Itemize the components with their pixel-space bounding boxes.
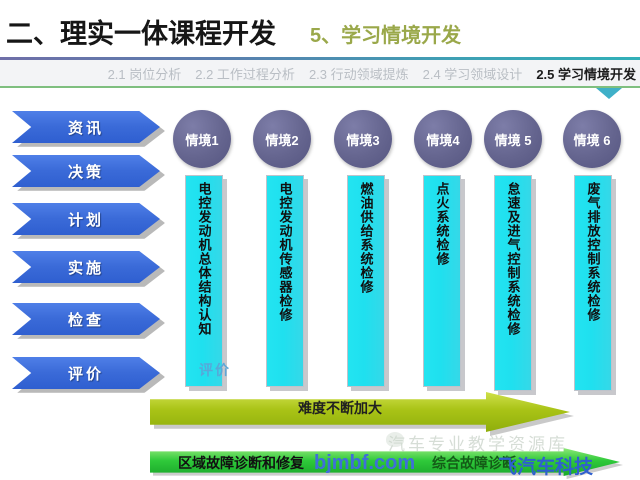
- scenario-column-label: 点火系统检修: [435, 182, 450, 266]
- slide-canvas: 二、理实一体课程开发 5、学习情境开发 2.1 岗位分析 2.2 工作过程分析 …: [0, 0, 640, 480]
- page-subtitle: 5、学习情境开发: [310, 19, 461, 48]
- slide-header: 二、理实一体课程开发 5、学习情境开发: [0, 0, 640, 58]
- step-shishi[interactable]: 实施: [12, 251, 160, 283]
- step-label: 计划: [68, 209, 104, 230]
- step-label: 资讯: [68, 117, 104, 138]
- section-tabbar: 2.1 岗位分析 2.2 工作过程分析 2.3 行动领域提炼 2.4 学习领域设…: [0, 60, 640, 88]
- step-label: 检查: [68, 309, 104, 330]
- step-jiancha[interactable]: 检查: [12, 303, 160, 335]
- scenario-column-label: 废气排放控制系统检修: [586, 182, 601, 322]
- scenario-column-1[interactable]: 电控发动机总体结构认知: [185, 175, 223, 387]
- scenario-column-6[interactable]: 废气排放控制系统检修: [574, 175, 612, 391]
- bottom-arrow-label-left: 区域故障诊断和修复: [178, 453, 304, 473]
- page-title: 二、理实一体课程开发: [6, 12, 276, 51]
- scenario-column-4[interactable]: 点火系统检修: [423, 175, 461, 387]
- scenario-circle-2[interactable]: 情境2: [253, 110, 311, 168]
- step-pingjia[interactable]: 评价: [12, 357, 160, 389]
- column-overlap-artifact: 评价: [199, 360, 231, 380]
- scenario-column-label: 电控发动机传感器检修: [278, 182, 293, 322]
- step-label: 实施: [68, 257, 104, 278]
- scenario-circle-label: 情境1: [185, 130, 218, 149]
- scenario-column-2[interactable]: 电控发动机传感器检修: [266, 175, 304, 387]
- watermark-brand: 飞汽车科技: [498, 452, 593, 479]
- tab-xuexi-lingyu[interactable]: 2.4 学习领域设计: [423, 64, 523, 83]
- step-label: 评价: [68, 363, 104, 384]
- step-zixun[interactable]: 资讯: [12, 111, 160, 143]
- difficulty-arrow-label: 难度不断加大: [150, 398, 530, 418]
- scenario-circle-label: 情境4: [426, 130, 459, 149]
- scenario-column-5[interactable]: 怠速及进气控制系统检修: [494, 175, 532, 391]
- step-label: 决策: [68, 161, 104, 182]
- watermark-domain: bjmbf.com: [314, 452, 415, 475]
- scenario-column-label: 燃油供给系统检修: [359, 182, 374, 294]
- scenario-circle-1[interactable]: 情境1: [173, 110, 231, 168]
- tab-xingdong-lingyu[interactable]: 2.3 行动领域提炼: [309, 64, 409, 83]
- tab-gongzuo-guocheng[interactable]: 2.2 工作过程分析: [195, 64, 295, 83]
- scenario-circle-label: 情境 6: [574, 130, 611, 149]
- scenario-column-label: 怠速及进气控制系统检修: [506, 182, 521, 336]
- scenario-circle-label: 情境2: [265, 130, 298, 149]
- scenario-column-label: 电控发动机总体结构认知: [197, 182, 212, 336]
- chevron-down-icon: [596, 88, 622, 99]
- tab-xuexi-qingjing[interactable]: 2.5 学习情境开发: [536, 64, 636, 83]
- scenario-circle-6[interactable]: 情境 6: [563, 110, 621, 168]
- scenario-circle-4[interactable]: 情境4: [414, 110, 472, 168]
- step-jihua[interactable]: 计划: [12, 203, 160, 235]
- tab-gangwei-fenxi[interactable]: 2.1 岗位分析: [108, 64, 182, 83]
- scenario-circle-3[interactable]: 情境3: [334, 110, 392, 168]
- scenario-circle-5[interactable]: 情境 5: [484, 110, 542, 168]
- step-juece[interactable]: 决策: [12, 155, 160, 187]
- scenario-column-3[interactable]: 燃油供给系统检修: [347, 175, 385, 387]
- scenario-circle-label: 情境3: [346, 130, 379, 149]
- scenario-circle-label: 情境 5: [495, 130, 532, 149]
